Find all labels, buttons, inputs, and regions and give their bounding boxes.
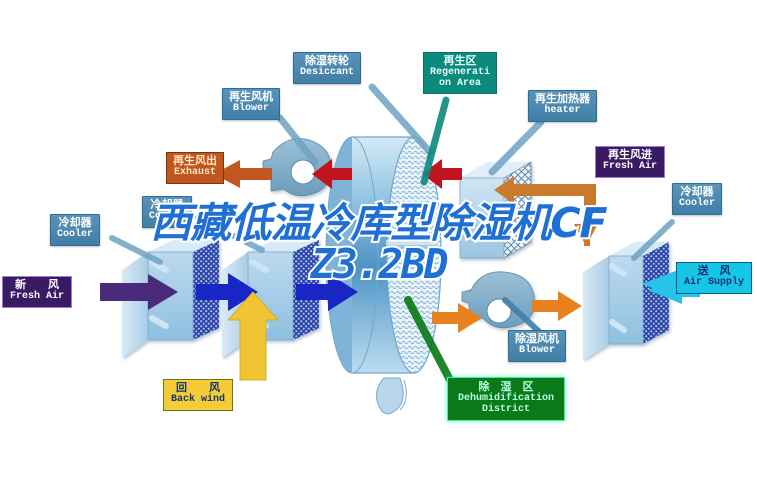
label-dehumidification-district-en2: District xyxy=(458,405,554,416)
label-dehumidification-district[interactable]: 除 湿 区 Dehumidification District xyxy=(447,377,565,421)
dehumidifier-schematic xyxy=(0,0,757,488)
label-desiccant-rotor-en: Desiccant xyxy=(300,68,354,79)
label-exhaust[interactable]: 再生风出 Exhaust xyxy=(166,152,224,184)
label-air-supply-en: Air Supply xyxy=(684,278,744,289)
label-regeneration-fresh-air[interactable]: 再生风进 Fresh Air xyxy=(595,146,665,178)
arrow-dehum-2 xyxy=(532,291,582,321)
label-desiccant-rotor[interactable]: 除湿转轮 Desiccant xyxy=(293,52,361,84)
label-regeneration-blower[interactable]: 再生风机 Blower xyxy=(222,88,280,120)
label-back-wind[interactable]: 回 风 Back wind xyxy=(163,379,233,411)
label-cooler-1-en: Cooler xyxy=(149,212,185,223)
label-regeneration-area-en2: on Area xyxy=(430,79,490,90)
label-cooler-3[interactable]: 冷却器 Cooler xyxy=(672,183,722,215)
label-fresh-air-en: Fresh Air xyxy=(10,292,64,303)
label-dehumidification-blower[interactable]: 除湿风机 Blower xyxy=(508,330,566,362)
label-cooler-2-en: Cooler xyxy=(57,230,93,241)
regeneration-heater xyxy=(460,162,531,258)
label-regeneration-blower-en: Blower xyxy=(229,104,273,115)
label-dehumidification-blower-en: Blower xyxy=(515,346,559,357)
label-exhaust-en: Exhaust xyxy=(173,168,217,179)
label-cooler-1[interactable]: 冷却器 Cooler xyxy=(142,196,192,228)
label-regeneration-heater[interactable]: 再生加热器 heater xyxy=(528,90,597,122)
label-regeneration-fresh-air-en: Fresh Air xyxy=(603,162,657,173)
diagram-canvas: 除湿转轮 Desiccant 再生风机 Blower 再生区 Regenerat… xyxy=(0,0,757,488)
label-cooler-2[interactable]: 冷却器 Cooler xyxy=(50,214,100,246)
label-cooler-3-en: Cooler xyxy=(679,199,715,210)
cooler-unit-3 xyxy=(583,242,669,360)
label-back-wind-en: Back wind xyxy=(171,395,225,406)
label-fresh-air[interactable]: 新 风 Fresh Air xyxy=(2,276,72,308)
label-air-supply[interactable]: 送 风 Air Supply xyxy=(676,262,752,294)
label-regeneration-heater-en: heater xyxy=(535,106,590,117)
regeneration-blower xyxy=(263,139,331,196)
label-regeneration-area[interactable]: 再生区 Regenerati on Area xyxy=(423,52,497,94)
